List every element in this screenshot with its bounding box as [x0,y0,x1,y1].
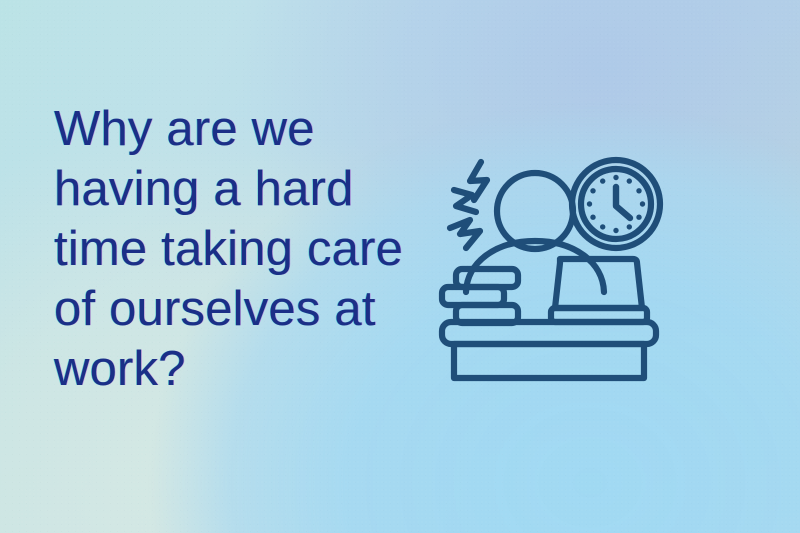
desk-front-panel [454,344,644,378]
person-head [497,173,573,249]
book-stack-icon [442,269,518,323]
stress-line-bottom [450,220,480,248]
slide-canvas: Why are we having a hard time taking car… [0,0,800,533]
page-title: Why are we having a hard time taking car… [54,99,454,399]
stress-lines-icon [450,162,487,248]
wall-clock-icon [572,160,660,248]
stressed-worker-illustration [434,140,674,385]
clock-hands [616,187,630,218]
desk-icon [442,322,656,378]
